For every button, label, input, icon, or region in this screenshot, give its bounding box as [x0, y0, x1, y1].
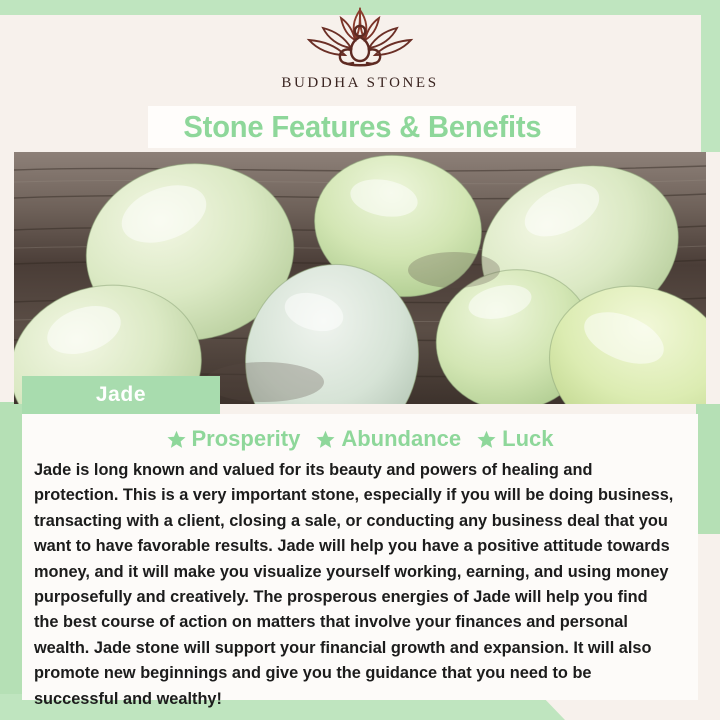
benefit-item: Abundance [316, 426, 461, 452]
benefit-item: Prosperity [167, 426, 301, 452]
lotus-meditation-icon [301, 6, 419, 72]
decor-left-green-strip [0, 402, 22, 702]
stone-name-text: Jade [96, 383, 146, 407]
infographic-page: BUDDHA STONES Stone Features & Benefits [0, 0, 720, 720]
benefit-item: Luck [477, 426, 553, 452]
content-card: Prosperity Abundance Luck Jade is long k… [22, 414, 698, 700]
page-title: Stone Features & Benefits [183, 109, 541, 145]
decor-right-green-strip [696, 404, 720, 534]
stone-name-label: Jade [22, 376, 220, 414]
brand-name: BUDDHA STONES [281, 75, 438, 92]
benefit-label: Prosperity [192, 426, 301, 452]
jade-stones-image [14, 152, 706, 404]
star-icon [167, 430, 186, 449]
benefit-label: Abundance [341, 426, 461, 452]
title-banner: Stone Features & Benefits [148, 106, 576, 148]
product-photo [14, 152, 706, 404]
brand-logo: BUDDHA STONES [0, 6, 720, 106]
star-icon [316, 430, 335, 449]
stone-description: Jade is long known and valued for its be… [30, 457, 680, 711]
benefits-row: Prosperity Abundance Luck [30, 426, 690, 452]
benefit-label: Luck [502, 426, 553, 452]
star-icon [477, 430, 496, 449]
